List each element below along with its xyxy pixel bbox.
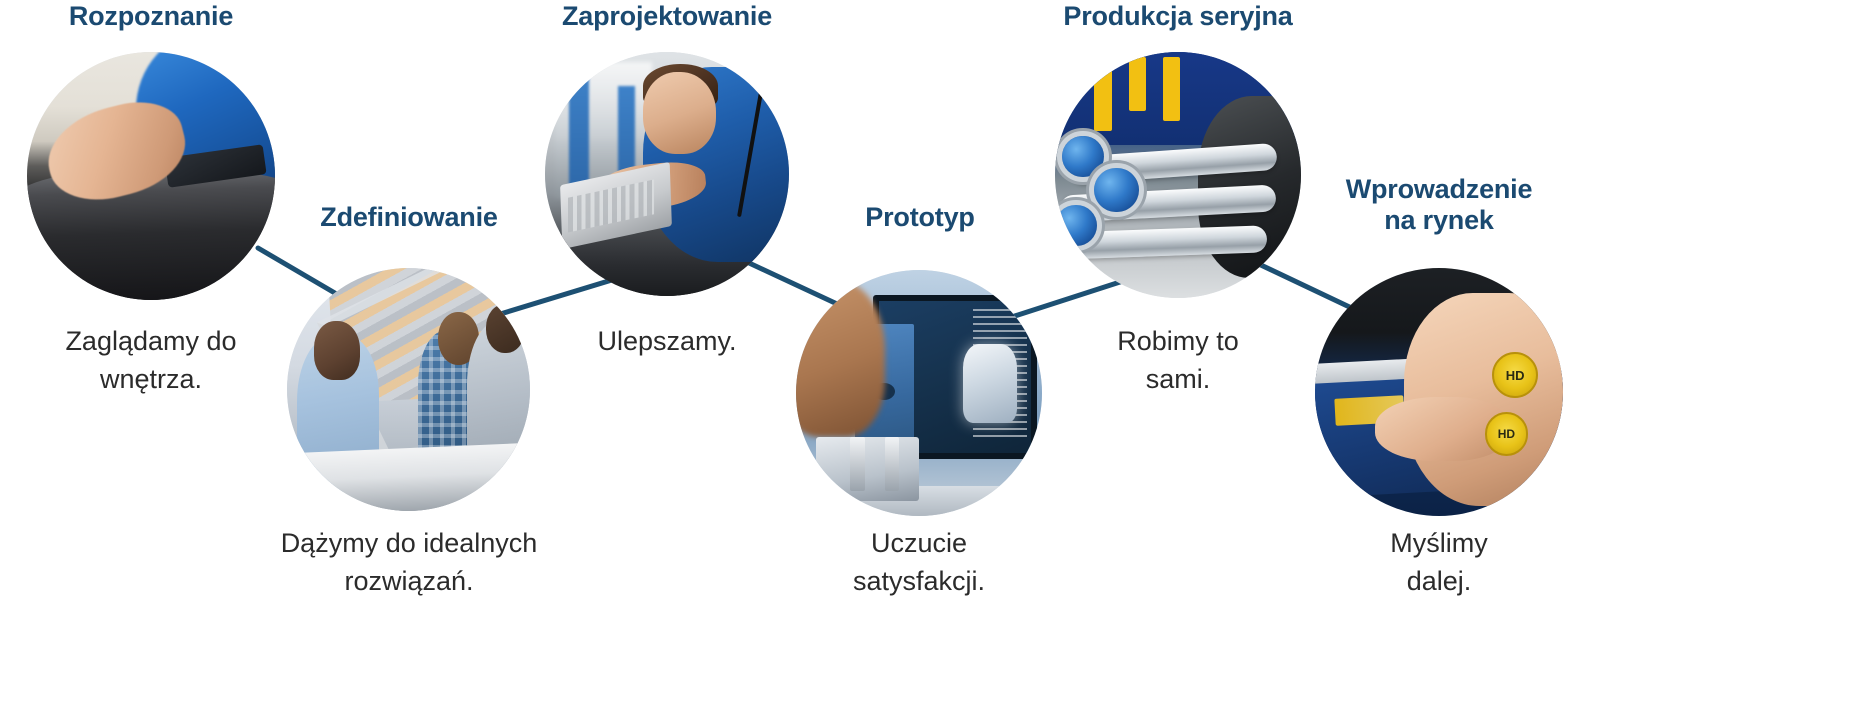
step-image-wprowadzenie-na-rynek: HD HD: [1315, 268, 1563, 516]
step-heading-produkcja-seryjna: Produkcja seryjna: [1043, 1, 1313, 32]
car-hood-detail: [27, 171, 275, 300]
photo-production-line: [1055, 52, 1301, 298]
blue-cap-2-detail: [1094, 168, 1138, 212]
photo-inspection: [27, 52, 275, 300]
person-left-head: [314, 321, 360, 379]
photo-market-launch: HD HD: [1315, 268, 1563, 516]
hd-badge-bottom: HD: [1485, 412, 1529, 456]
yellow-marking-2-detail: [1129, 57, 1146, 111]
mechanic-head-detail: [643, 72, 716, 155]
photo-team-blueprints: [287, 268, 530, 511]
step-caption-zdefiniowanie: Dążymy do idealnych rozwiązań.: [262, 524, 556, 601]
fixture-bolt-right-detail: [885, 437, 900, 491]
step-caption-zaprojektowanie: Ulepszamy.: [537, 322, 797, 360]
process-flow-diagram: Rozpoznanie Zaglądamy do wnętrza. Zdefin…: [0, 0, 1869, 705]
step-image-prototyp: [796, 270, 1042, 516]
step-image-produkcja-seryjna: [1055, 52, 1301, 298]
measuring-fixture-detail: [816, 437, 919, 501]
step-heading-zaprojektowanie: Zaprojektowanie: [537, 1, 797, 32]
step-caption-wprowadzenie-na-rynek: Myślimy dalej.: [1315, 524, 1563, 601]
step-caption-produkcja-seryjna: Robimy to sami.: [1048, 322, 1308, 399]
drafting-table-detail: [287, 442, 530, 511]
wristband-detail: [85, 139, 127, 168]
step-image-zdefiniowanie: [287, 268, 530, 511]
step-image-rozpoznanie: [27, 52, 275, 300]
step-heading-prototyp: Prototyp: [810, 202, 1030, 233]
fixture-bolt-left-detail: [850, 437, 865, 491]
blue-cap-3-detail: [1055, 205, 1097, 247]
photo-cad-prototype: [796, 270, 1042, 516]
step-caption-rozpoznanie: Zaglądamy do wnętrza.: [26, 322, 276, 399]
photo-diagnostics: [545, 52, 789, 296]
step-heading-wprowadzenie-na-rynek: Wprowadzenie na rynek: [1326, 174, 1552, 237]
person-right-head: [486, 304, 525, 353]
blurred-arm-detail: [796, 280, 885, 437]
cad-part-model-detail: [963, 344, 1017, 423]
step-image-zaprojektowanie: [545, 52, 789, 296]
yellow-marking-1-detail: [1094, 57, 1111, 131]
step-heading-zdefiniowanie: Zdefiniowanie: [297, 202, 521, 233]
step-caption-prototyp: Uczucie satysfakcji.: [790, 524, 1048, 601]
yellow-marking-3-detail: [1163, 57, 1180, 121]
step-heading-rozpoznanie: Rozpoznanie: [26, 1, 276, 32]
